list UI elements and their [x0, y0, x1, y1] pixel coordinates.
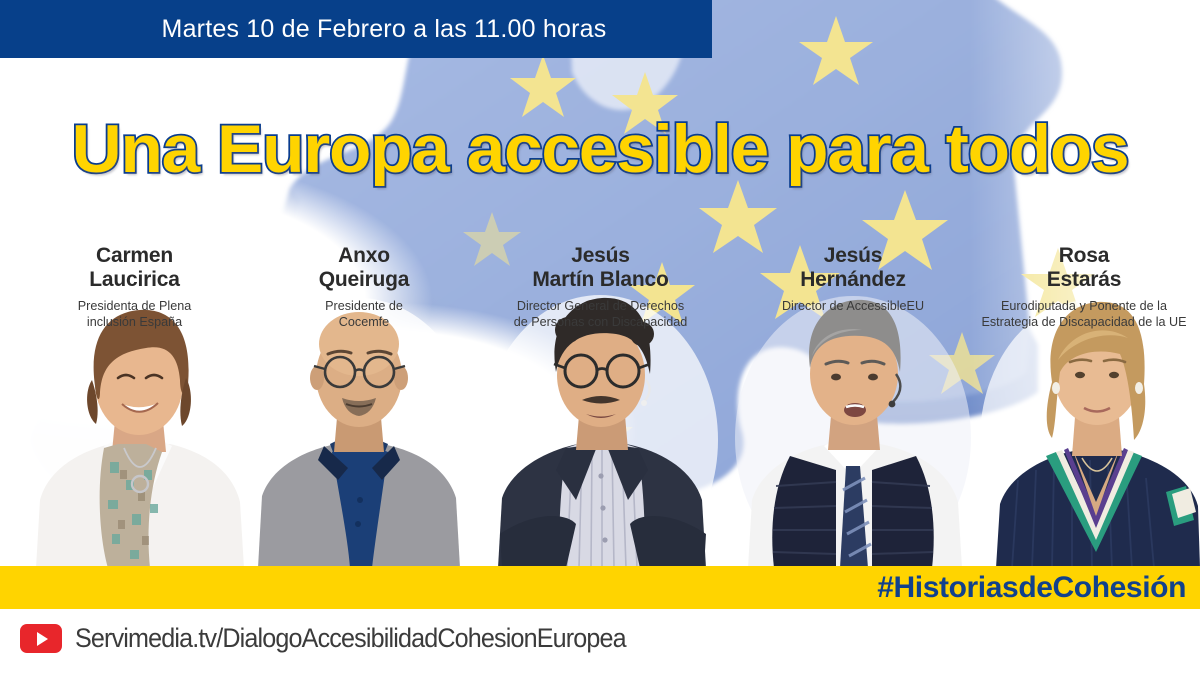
speaker-first-name: Jesús	[478, 244, 723, 268]
speaker-name: Jesús Hernández	[740, 244, 966, 293]
poster-title-text: Una Europa accesible para todos	[72, 110, 1129, 188]
speaker-first-name: Jesús	[740, 244, 966, 268]
speaker-role: Director General de Derechos de Personas…	[478, 298, 723, 331]
speaker-last-name: Estarás	[972, 268, 1196, 292]
hashtag: #HistoriasdeCohesión	[877, 567, 1186, 609]
poster-title: Una Europa accesible para todos	[0, 110, 1200, 188]
speaker-last-name: Queiruga	[258, 268, 470, 292]
speaker-role-line1: Eurodiputada y Ponente de la	[972, 298, 1196, 315]
speaker-role: Presidenta de Plena inclusión España	[22, 298, 247, 331]
speaker-jesus-hernandez: Jesús Hernández Director de AccessibleEU	[740, 244, 966, 314]
speaker-first-name: Carmen	[22, 244, 247, 268]
speaker-rosa-estaras: Rosa Estarás Eurodiputada y Ponente de l…	[972, 244, 1196, 331]
speaker-first-name: Rosa	[972, 244, 1196, 268]
date-banner-text: Martes 10 de Febrero a las 11.00 horas	[106, 15, 607, 44]
speaker-anxo-queiruga: Anxo Queiruga Presidente de Cocemfe	[258, 244, 470, 331]
date-banner: Martes 10 de Febrero a las 11.00 horas	[0, 0, 712, 58]
hashtag-text: #HistoriasdeCohesión	[877, 571, 1186, 605]
speaker-name: Anxo Queiruga	[258, 244, 470, 293]
speaker-role-line1: Director de AccessibleEU	[740, 298, 966, 315]
youtube-link[interactable]: Servimedia.tv/DialogoAccesibilidadCohesi…	[20, 623, 667, 654]
speaker-name: Jesús Martín Blanco	[478, 244, 723, 293]
event-poster: Martes 10 de Febrero a las 11.00 horas U…	[0, 0, 1200, 675]
youtube-play-icon[interactable]	[20, 624, 62, 653]
speaker-role-line1: Presidenta de Plena	[22, 298, 247, 315]
speaker-role-line2: de Personas con Discapacidad	[478, 314, 723, 331]
speaker-role: Presidente de Cocemfe	[258, 298, 470, 331]
speaker-role-line2: inclusión España	[22, 314, 247, 331]
speaker-name: Rosa Estarás	[972, 244, 1196, 293]
speaker-name: Carmen Laucirica	[22, 244, 247, 293]
footer: Servimedia.tv/DialogoAccesibilidadCohesi…	[0, 609, 1200, 675]
stream-url[interactable]: Servimedia.tv/DialogoAccesibilidadCohesi…	[75, 623, 626, 654]
speaker-last-name: Hernández	[740, 268, 966, 292]
speaker-role-line2: Estrategia de Discapacidad de la UE	[972, 314, 1196, 331]
speaker-role-line2: Cocemfe	[258, 314, 470, 331]
speaker-carmen-laucirica: Carmen Laucirica Presidenta de Plena inc…	[22, 244, 247, 331]
speaker-last-name: Laucirica	[22, 268, 247, 292]
speaker-role: Director de AccessibleEU	[740, 298, 966, 315]
speaker-role: Eurodiputada y Ponente de la Estrategia …	[972, 298, 1196, 331]
speaker-list: Carmen Laucirica Presidenta de Plena inc…	[0, 244, 1200, 574]
speaker-role-line1: Presidente de	[258, 298, 470, 315]
speaker-role-line1: Director General de Derechos	[478, 298, 723, 315]
speaker-first-name: Anxo	[258, 244, 470, 268]
speaker-jesus-martin-blanco: Jesús Martín Blanco Director General de …	[478, 244, 723, 331]
speaker-last-name: Martín Blanco	[478, 268, 723, 292]
